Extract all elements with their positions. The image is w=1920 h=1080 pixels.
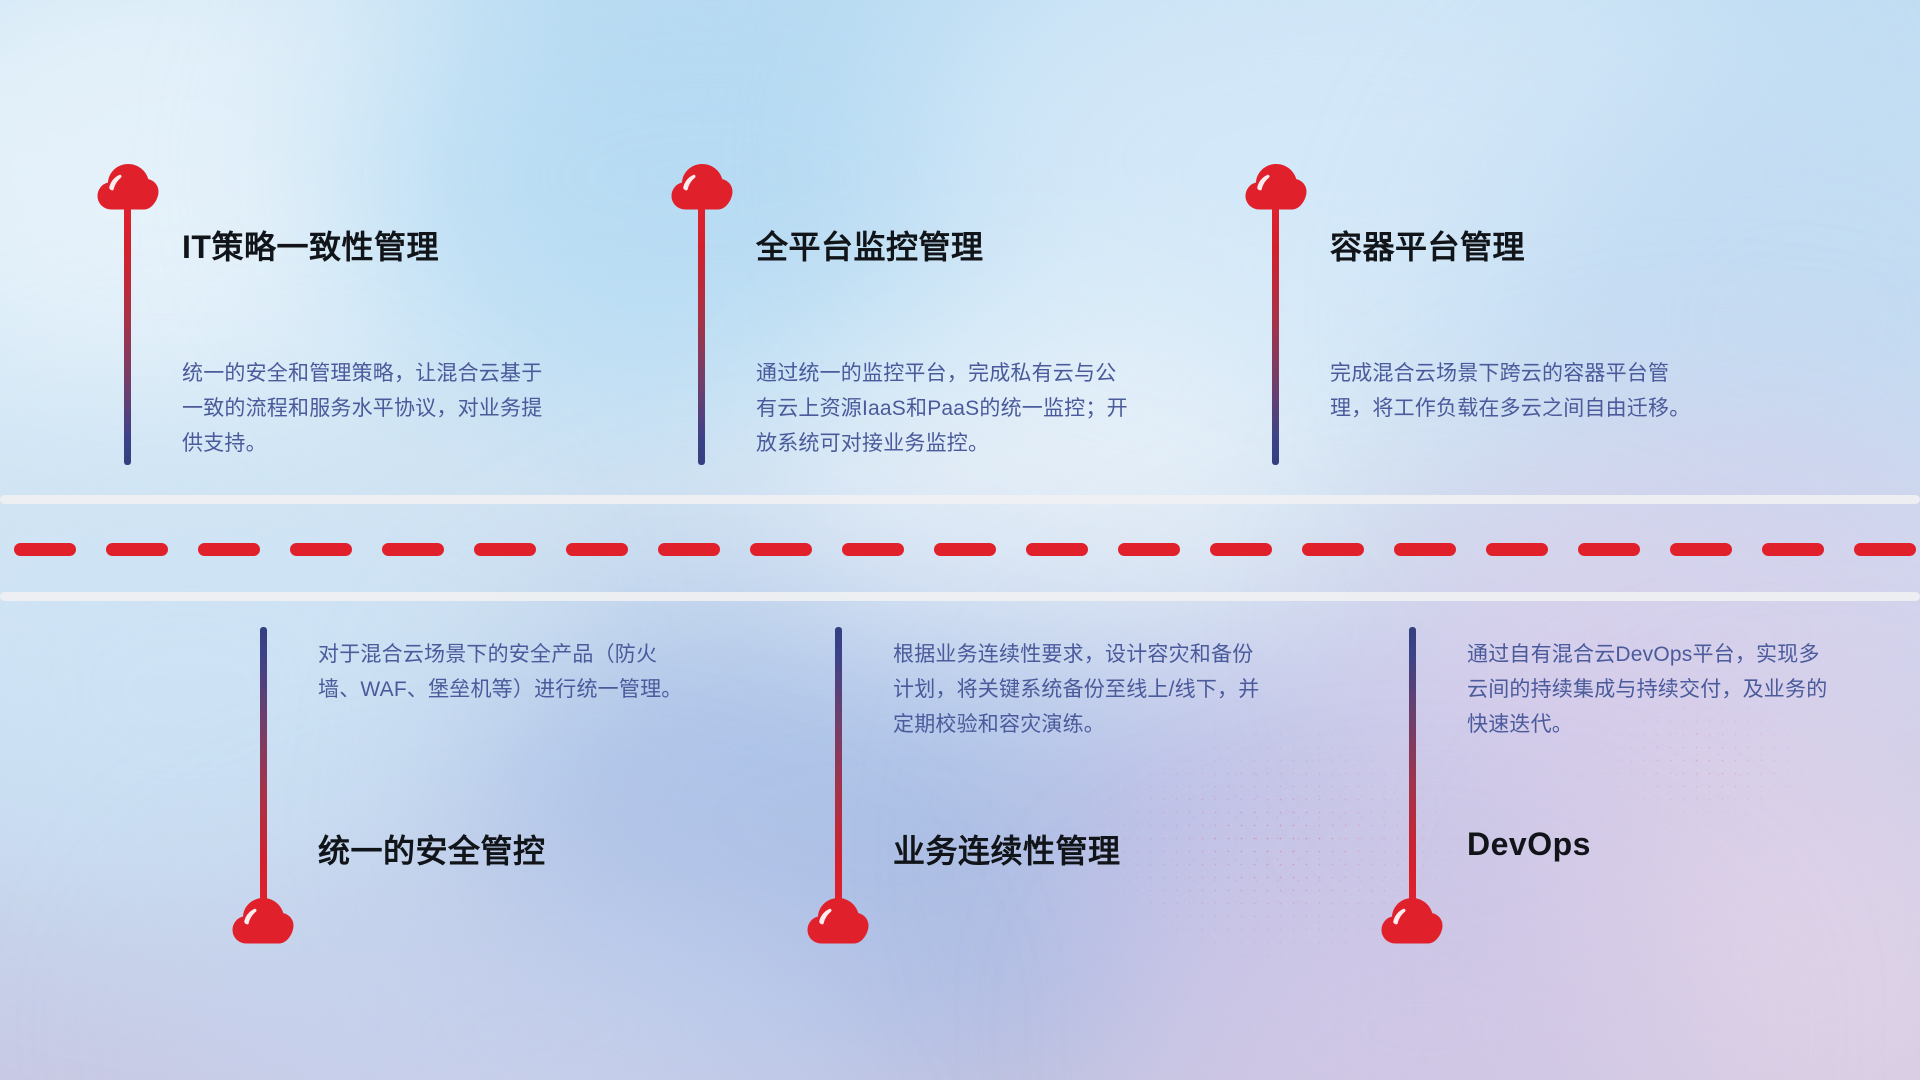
divider-dash — [1854, 543, 1916, 556]
cloud-icon — [671, 163, 733, 210]
divider-dash — [750, 543, 812, 556]
divider-dash — [14, 543, 76, 556]
divider-dash — [198, 543, 260, 556]
divider-dash — [382, 543, 444, 556]
divider-dash — [1670, 543, 1732, 556]
cloud-icon — [97, 163, 159, 210]
top-card-heading: 全平台监控管理 — [756, 222, 984, 268]
cloud-icon — [807, 897, 869, 944]
connector-stem — [1409, 627, 1416, 907]
divider-dash — [566, 543, 628, 556]
bottom-card-body: 对于混合云场景下的安全产品（防火墙、WAF、堡垒机等）进行统一管理。 — [318, 637, 690, 707]
top-card-heading: 容器平台管理 — [1330, 222, 1525, 268]
top-card-body: 完成混合云场景下跨云的容器平台管理，将工作负载在多云之间自由迁移。 — [1330, 356, 1702, 426]
connector-stem — [698, 207, 705, 465]
cloud-icon — [1381, 897, 1443, 944]
divider-dash — [1118, 543, 1180, 556]
divider-bottom-line — [0, 592, 1920, 601]
divider-dash — [1578, 543, 1640, 556]
divider-dash — [658, 543, 720, 556]
bottom-card-heading: 业务连续性管理 — [893, 826, 1121, 872]
connector-stem — [1272, 207, 1279, 465]
divider-dash — [934, 543, 996, 556]
connector-stem — [124, 207, 131, 465]
top-card-heading: IT策略一致性管理 — [182, 222, 439, 268]
infographic-canvas: IT策略一致性管理 统一的安全和管理策略，让混合云基于一致的流程和服务水平协议，… — [0, 0, 1920, 1080]
divider-dash — [474, 543, 536, 556]
divider-dash — [106, 543, 168, 556]
connector-stem — [260, 627, 267, 907]
divider-dash — [842, 543, 904, 556]
cloud-icon — [1245, 163, 1307, 210]
connector-stem — [835, 627, 842, 907]
cloud-icon — [232, 897, 294, 944]
divider-dash — [1762, 543, 1824, 556]
bottom-card-body: 通过自有混合云DevOps平台，实现多云间的持续集成与持续交付，及业务的快速迭代… — [1467, 637, 1839, 742]
divider-dash — [1486, 543, 1548, 556]
top-card-body: 统一的安全和管理策略，让混合云基于一致的流程和服务水平协议，对业务提供支持。 — [182, 356, 554, 461]
divider-dash — [1394, 543, 1456, 556]
divider-dash — [1210, 543, 1272, 556]
bottom-card-heading: DevOps — [1467, 826, 1591, 863]
divider-dash — [290, 543, 352, 556]
bottom-card-heading: 统一的安全管控 — [318, 826, 546, 872]
divider-top-line — [0, 495, 1920, 504]
bottom-card-body: 根据业务连续性要求，设计容灾和备份计划，将关键系统备份至线上/线下，并定期校验和… — [893, 637, 1265, 742]
divider-dash — [1302, 543, 1364, 556]
divider-dash — [1026, 543, 1088, 556]
divider-dashed-line — [0, 543, 1920, 556]
top-card-body: 通过统一的监控平台，完成私有云与公有云上资源IaaS和PaaS的统一监控；开放系… — [756, 356, 1128, 461]
